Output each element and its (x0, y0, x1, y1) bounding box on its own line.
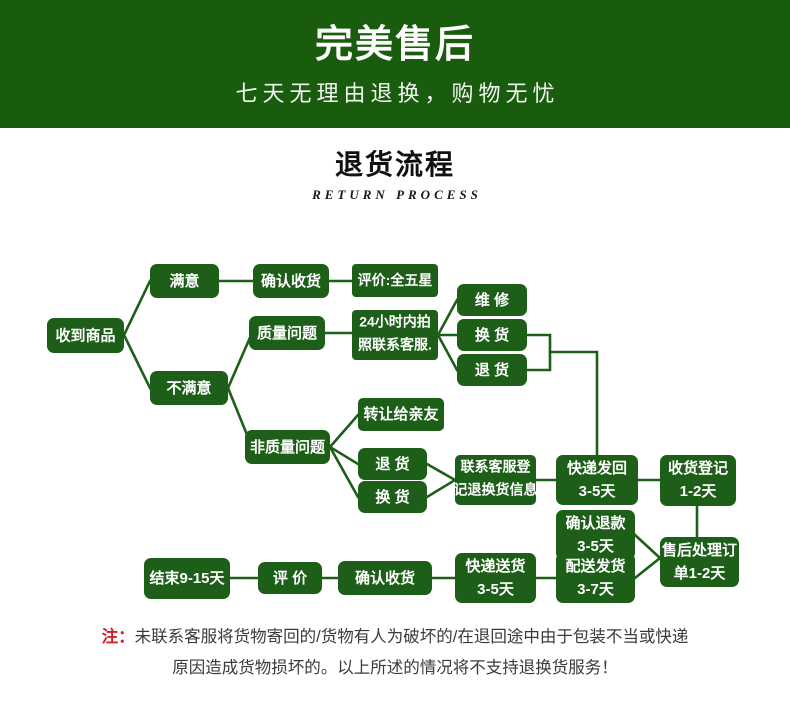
note-line-2: 原因造成货物损坏的。以上所述的情况将不支持退换货服务！ (0, 653, 790, 684)
node-non-quality-issue-label: 非质量问题 (250, 438, 326, 456)
node-received-label: 收到商品 (55, 326, 115, 344)
edge-received-satisfied (124, 281, 150, 335)
node-repair[interactable]: 维 修 (457, 284, 527, 316)
return-policy-note: 注：未联系客服将货物寄回的/货物有人为破坏的/在退回途中由于包装不当或快递 原因… (0, 622, 790, 683)
edge-contact-repair (438, 300, 457, 335)
node-aftersale-order-line2: 单1-2天 (674, 564, 727, 582)
node-confirm-receipt-top-label: 确认收货 (261, 272, 321, 290)
edge-merge-to-shipback (550, 352, 597, 455)
node-evaluate-label: 评 价 (273, 570, 308, 587)
node-non-quality-issue[interactable]: 非质量问题 (245, 430, 330, 464)
node-delivery-ship[interactable]: 配送发货 3-7天 (556, 553, 635, 603)
edge-received-notsatisfied (124, 335, 150, 388)
node-receive-register-line1: 收货登记 (668, 459, 728, 477)
node-rate-five-star[interactable]: 评价:全五星 (352, 264, 438, 297)
node-satisfied-label: 满意 (169, 272, 199, 290)
note-label: 注： (102, 628, 135, 646)
node-contact-24h-line1: 24小时内拍 (359, 314, 431, 330)
note-line-1-text: 未联系客服将货物寄回的/货物有人为破坏的/在退回途中由于包装不当或快递 (135, 628, 689, 646)
node-repair-label: 维 修 (475, 291, 510, 309)
banner-title: 完美售后 (315, 24, 475, 68)
node-finish-label: 结束9-15天 (149, 569, 225, 587)
node-quality-issue[interactable]: 质量问题 (249, 316, 325, 350)
node-courier-deliver-line1: 快递送货 (465, 557, 525, 575)
node-received[interactable]: 收到商品 (47, 318, 124, 353)
note-line-1: 注：未联系客服将货物寄回的/货物有人为破坏的/在退回途中由于包装不当或快递 (0, 622, 790, 653)
node-exchange-mid[interactable]: 换 货 (358, 481, 427, 513)
node-transfer-to-friend-label: 转让给亲友 (363, 405, 438, 423)
node-aftersale-order[interactable]: 售后处理订 单1-2天 (660, 537, 739, 587)
node-receive-register[interactable]: 收货登记 1-2天 (660, 455, 736, 506)
node-confirm-refund[interactable]: 确认退款 3-5天 (556, 510, 635, 560)
node-register-return-info[interactable]: 联系客服登 记退换货信息 (454, 455, 538, 505)
page-subtitle: RETURN PROCESS (0, 187, 790, 203)
node-ship-back-line1: 快递发回 (567, 459, 627, 477)
edge-nonquality-transfer (330, 415, 358, 447)
node-finish[interactable]: 结束9-15天 (144, 558, 230, 599)
node-delivery-ship-line2: 3-7天 (577, 581, 615, 598)
node-ship-back-line2: 3-5天 (579, 483, 617, 500)
edge-delivery-aftersale (635, 558, 660, 578)
node-return-top-label: 退 货 (475, 361, 509, 379)
node-confirm-refund-line2: 3-5天 (577, 538, 615, 555)
return-process-flowchart: 收到商品 满意 确认收货 评价:全五星 不满意 质量问题 24小时内拍 照联系客… (0, 240, 790, 610)
edge-refund-aftersale (635, 535, 660, 558)
node-exchange-top-label: 换 货 (475, 326, 509, 344)
node-satisfied[interactable]: 满意 (150, 264, 219, 298)
node-contact-24h-line2: 照联系客服. (358, 337, 432, 353)
node-register-line1: 联系客服登 (461, 459, 532, 475)
node-aftersale-order-line1: 售后处理订 (662, 541, 737, 559)
node-exchange-mid-label: 换 货 (375, 488, 409, 506)
node-courier-deliver[interactable]: 快递送货 3-5天 (455, 553, 536, 603)
node-evaluate[interactable]: 评 价 (258, 562, 322, 594)
edge-return-register (427, 464, 455, 480)
node-return-top[interactable]: 退 货 (457, 354, 527, 386)
node-delivery-ship-line1: 配送发货 (565, 557, 625, 575)
edge-exchange-register (427, 480, 455, 497)
node-not-satisfied-label: 不满意 (166, 379, 211, 397)
promo-banner: 完美售后 七天无理由退换，购物无忧 (0, 0, 790, 128)
node-confirm-refund-line1: 确认退款 (565, 514, 626, 532)
node-return-mid-label: 退 货 (375, 455, 409, 473)
node-exchange-top[interactable]: 换 货 (457, 319, 527, 351)
node-not-satisfied[interactable]: 不满意 (150, 371, 228, 405)
section-header: 退货流程 RETURN PROCESS (0, 150, 790, 203)
node-contact-24h[interactable]: 24小时内拍 照联系客服. (352, 310, 438, 360)
node-receive-register-line2: 1-2天 (680, 483, 718, 500)
node-confirm-receipt-bottom[interactable]: 确认收货 (338, 561, 432, 595)
node-confirm-receipt-top[interactable]: 确认收货 (253, 264, 329, 298)
banner-subtitle: 七天无理由退换，购物无忧 (230, 76, 559, 108)
edge-notsatisfied-quality (228, 333, 252, 388)
node-register-line2: 记退换货信息 (454, 482, 538, 498)
node-confirm-receipt-bottom-label: 确认收货 (355, 569, 415, 587)
page-title: 退货流程 (0, 150, 790, 181)
node-rate-five-star-label: 评价:全五星 (358, 272, 433, 288)
edge-exchange-return-merge (527, 335, 550, 370)
node-ship-back[interactable]: 快递发回 3-5天 (556, 455, 638, 505)
node-return-mid[interactable]: 退 货 (358, 448, 427, 480)
node-quality-issue-label: 质量问题 (257, 324, 318, 342)
edge-contact-return (438, 335, 457, 370)
node-transfer-to-friend[interactable]: 转让给亲友 (358, 398, 444, 431)
node-courier-deliver-line2: 3-5天 (477, 581, 515, 598)
